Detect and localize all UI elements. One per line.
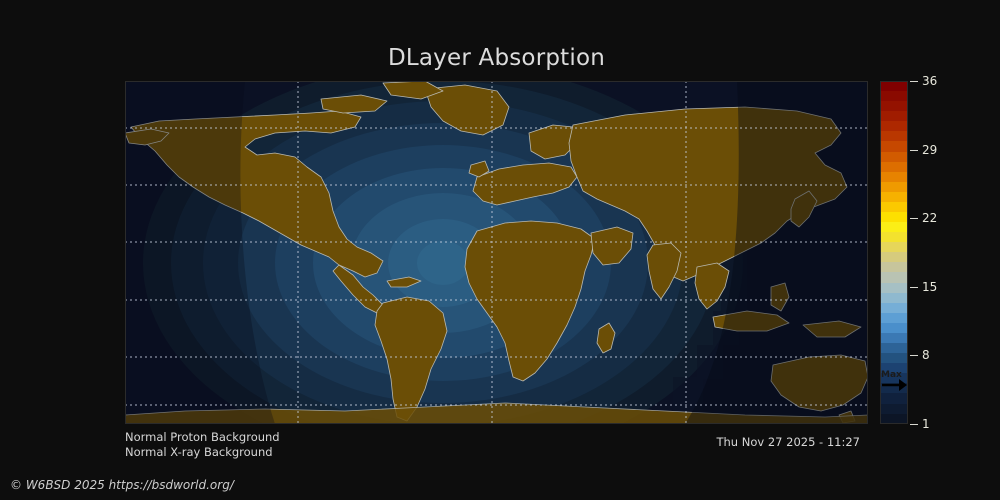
colorbar-band — [880, 141, 908, 151]
colorbar-band — [880, 293, 908, 303]
colorbar-band — [880, 383, 908, 393]
colorbar-tick — [910, 218, 918, 219]
colorbar-tick — [910, 355, 918, 356]
colorbar-band — [880, 262, 908, 272]
colorbar-tick-label: 1 — [922, 417, 930, 431]
colorbar-tick — [910, 81, 918, 82]
colorbar[interactable] — [880, 81, 908, 424]
colorbar-band — [880, 333, 908, 343]
colorbar-band — [880, 81, 908, 91]
colorbar-band — [880, 131, 908, 141]
colorbar-band — [880, 363, 908, 373]
colorbar-band — [880, 101, 908, 111]
map-layers — [125, 81, 868, 424]
dlayer-absorption-figure: DLayer Absorption — [0, 0, 1000, 500]
colorbar-band — [880, 222, 908, 232]
colorbar-tick — [910, 424, 918, 425]
map-canvas — [125, 81, 868, 424]
timestamp: Thu Nov 27 2025 - 11:27 — [716, 435, 860, 449]
colorbar-band — [880, 172, 908, 182]
copyright-footer: © W6BSD 2025 https://bsdworld.org/ — [10, 478, 234, 492]
colorbar-band — [880, 303, 908, 313]
colorbar-tick-label: 8 — [922, 348, 930, 362]
colorbar-band — [880, 343, 908, 353]
colorbar-band — [880, 283, 908, 293]
colorbar-band — [880, 91, 908, 101]
colorbar-band — [880, 111, 908, 121]
colorbar-axis-label: Affected Frequency (MHz) — [934, 81, 1000, 424]
colorbar-band — [880, 242, 908, 252]
colorbar-band — [880, 272, 908, 282]
colorbar-band — [880, 121, 908, 131]
colorbar-band — [880, 192, 908, 202]
colorbar-band — [880, 162, 908, 172]
colorbar-band — [880, 404, 908, 414]
status-xray-background: Normal X-ray Background — [125, 445, 273, 459]
colorbar-band — [880, 182, 908, 192]
world-map[interactable] — [125, 81, 868, 424]
colorbar-band — [880, 232, 908, 242]
page-title: DLayer Absorption — [125, 45, 868, 71]
colorbar-band — [880, 414, 908, 424]
colorbar-tick — [910, 150, 918, 151]
colorbar-band — [880, 202, 908, 212]
colorbar-band — [880, 353, 908, 363]
colorbar-band — [880, 252, 908, 262]
colorbar-band — [880, 393, 908, 403]
colorbar-band — [880, 152, 908, 162]
colorbar-band — [880, 373, 908, 383]
colorbar-band — [880, 323, 908, 333]
colorbar-band — [880, 212, 908, 222]
status-proton-background: Normal Proton Background — [125, 430, 280, 444]
colorbar-band — [880, 313, 908, 323]
colorbar-tick — [910, 287, 918, 288]
